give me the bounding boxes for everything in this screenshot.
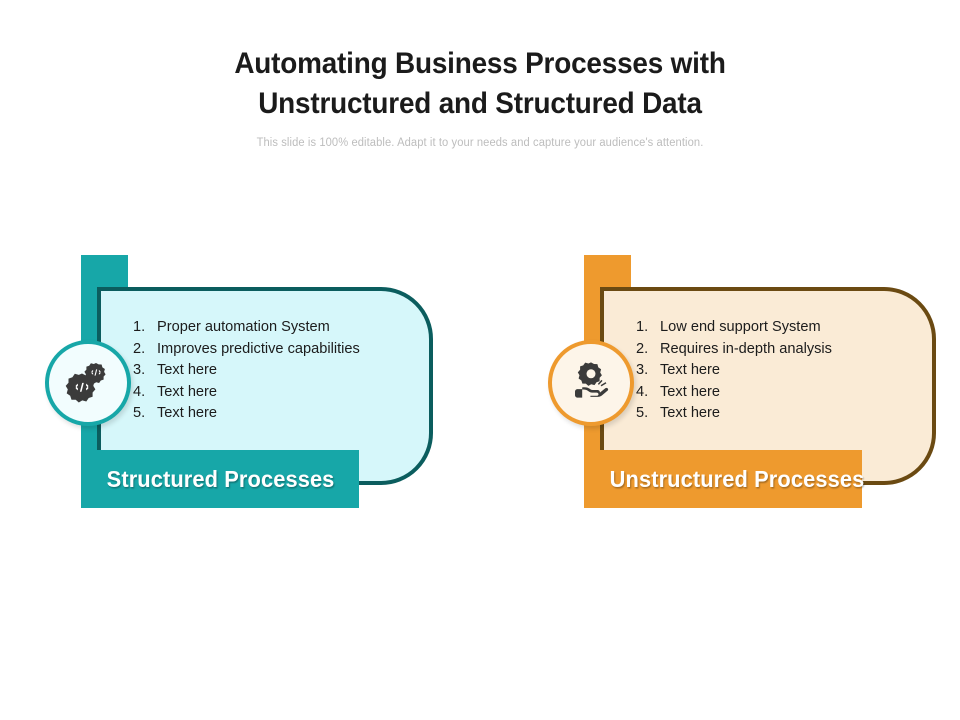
page-title: Automating Business Processes with Unstr… bbox=[182, 44, 777, 123]
list-item: 5. Text here bbox=[636, 403, 832, 425]
list-item-number: 2. bbox=[133, 339, 157, 361]
list-item-number: 4. bbox=[133, 382, 157, 404]
list-item: 3. Text here bbox=[636, 360, 832, 382]
list-item-label: Text here bbox=[157, 360, 217, 382]
list-item-number: 4. bbox=[636, 382, 660, 404]
hand-gear-icon bbox=[566, 358, 616, 408]
block-structured[interactable]: 1. Proper automation System 2. Improves … bbox=[45, 255, 445, 515]
list-structured: 1. Proper automation System 2. Improves … bbox=[133, 317, 360, 425]
page-title-line-1: Automating Business Processes with bbox=[182, 44, 777, 84]
medallion-structured bbox=[45, 340, 131, 426]
slide-canvas: Automating Business Processes with Unstr… bbox=[0, 0, 960, 720]
list-item: 4. Text here bbox=[636, 382, 832, 404]
list-item: 1. Low end support System bbox=[636, 317, 832, 339]
block-label-unstructured: Unstructured Processes bbox=[584, 466, 864, 493]
list-item-number: 1. bbox=[133, 317, 157, 339]
label-strip-structured: Structured Processes bbox=[81, 450, 359, 508]
gears-code-icon bbox=[63, 358, 113, 408]
list-item-number: 5. bbox=[133, 403, 157, 425]
list-item-label: Text here bbox=[157, 382, 217, 404]
list-item-number: 3. bbox=[133, 360, 157, 382]
slide-header: Automating Business Processes with Unstr… bbox=[0, 44, 960, 149]
list-item-label: Improves predictive capabilities bbox=[157, 339, 360, 361]
list-item-number: 2. bbox=[636, 339, 660, 361]
medallion-unstructured bbox=[548, 340, 634, 426]
block-label-structured: Structured Processes bbox=[81, 466, 334, 493]
list-item: 2. Improves predictive capabilities bbox=[133, 339, 360, 361]
list-item-number: 1. bbox=[636, 317, 660, 339]
page-title-line-2: Unstructured and Structured Data bbox=[182, 84, 777, 124]
list-item: 2. Requires in-depth analysis bbox=[636, 339, 832, 361]
list-item-label: Text here bbox=[660, 382, 720, 404]
slide-subtitle: This slide is 100% editable. Adapt it to… bbox=[131, 137, 829, 149]
list-item-label: Requires in-depth analysis bbox=[660, 339, 832, 361]
list-item-label: Text here bbox=[157, 403, 217, 425]
list-unstructured: 1. Low end support System 2. Requires in… bbox=[636, 317, 832, 425]
list-item-number: 3. bbox=[636, 360, 660, 382]
list-item-label: Proper automation System bbox=[157, 317, 330, 339]
list-item: 1. Proper automation System bbox=[133, 317, 360, 339]
label-strip-unstructured: Unstructured Processes bbox=[584, 450, 862, 508]
list-item-label: Text here bbox=[660, 403, 720, 425]
list-item-number: 5. bbox=[636, 403, 660, 425]
list-item: 5. Text here bbox=[133, 403, 360, 425]
block-unstructured[interactable]: 1. Low end support System 2. Requires in… bbox=[548, 255, 948, 515]
list-item-label: Low end support System bbox=[660, 317, 821, 339]
list-item: 3. Text here bbox=[133, 360, 360, 382]
list-item-label: Text here bbox=[660, 360, 720, 382]
list-item: 4. Text here bbox=[133, 382, 360, 404]
